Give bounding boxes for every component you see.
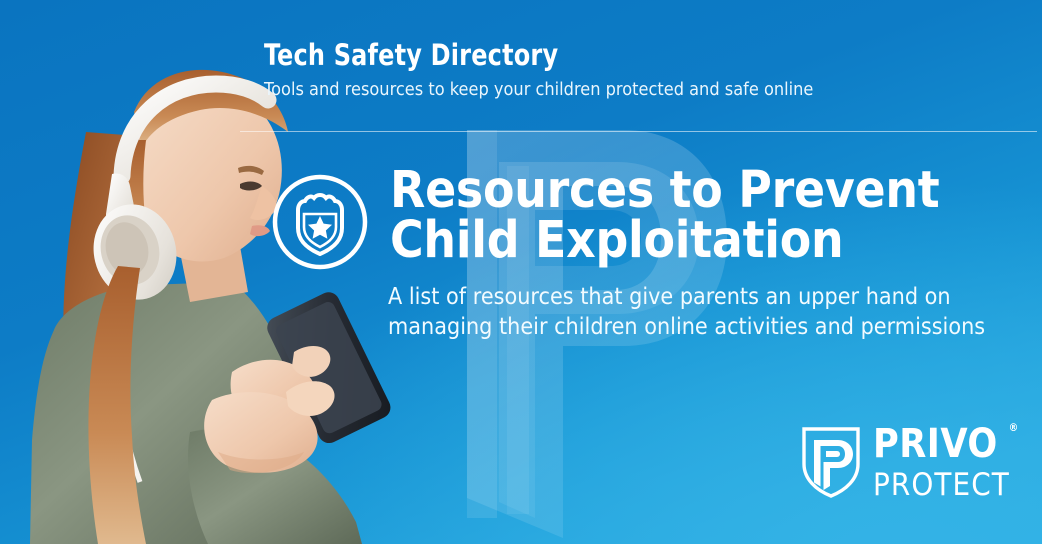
logo-primary-text: PRIVO® xyxy=(873,424,1007,464)
header: Tech Safety Directory Tools and resource… xyxy=(264,38,1024,101)
header-subtitle: Tools and resources to keep your childre… xyxy=(264,79,948,101)
logo-secondary-label: PROTECT xyxy=(873,470,1010,501)
logo-primary-label: PRIVO xyxy=(873,421,998,467)
header-divider xyxy=(240,131,1037,132)
main-heading-row: Resources to Prevent Child Exploitation xyxy=(264,162,1024,274)
header-title: Tech Safety Directory xyxy=(264,38,963,72)
main-body-text: A list of resources that give parents an… xyxy=(388,282,1022,343)
logo-wordmark: PRIVO® PROTECT xyxy=(873,424,1025,501)
privo-protect-logo: PRIVO® PROTECT xyxy=(800,419,1000,505)
privo-shield-p-icon xyxy=(800,424,862,500)
registered-trademark-icon: ® xyxy=(1009,422,1019,433)
tech-safety-directory-banner: Tech Safety Directory Tools and resource… xyxy=(0,0,1042,544)
main-title: Resources to Prevent Child Exploitation xyxy=(390,166,939,267)
police-badge-shield-star-icon xyxy=(268,170,372,274)
main-content: Resources to Prevent Child Exploitation … xyxy=(264,162,1024,343)
